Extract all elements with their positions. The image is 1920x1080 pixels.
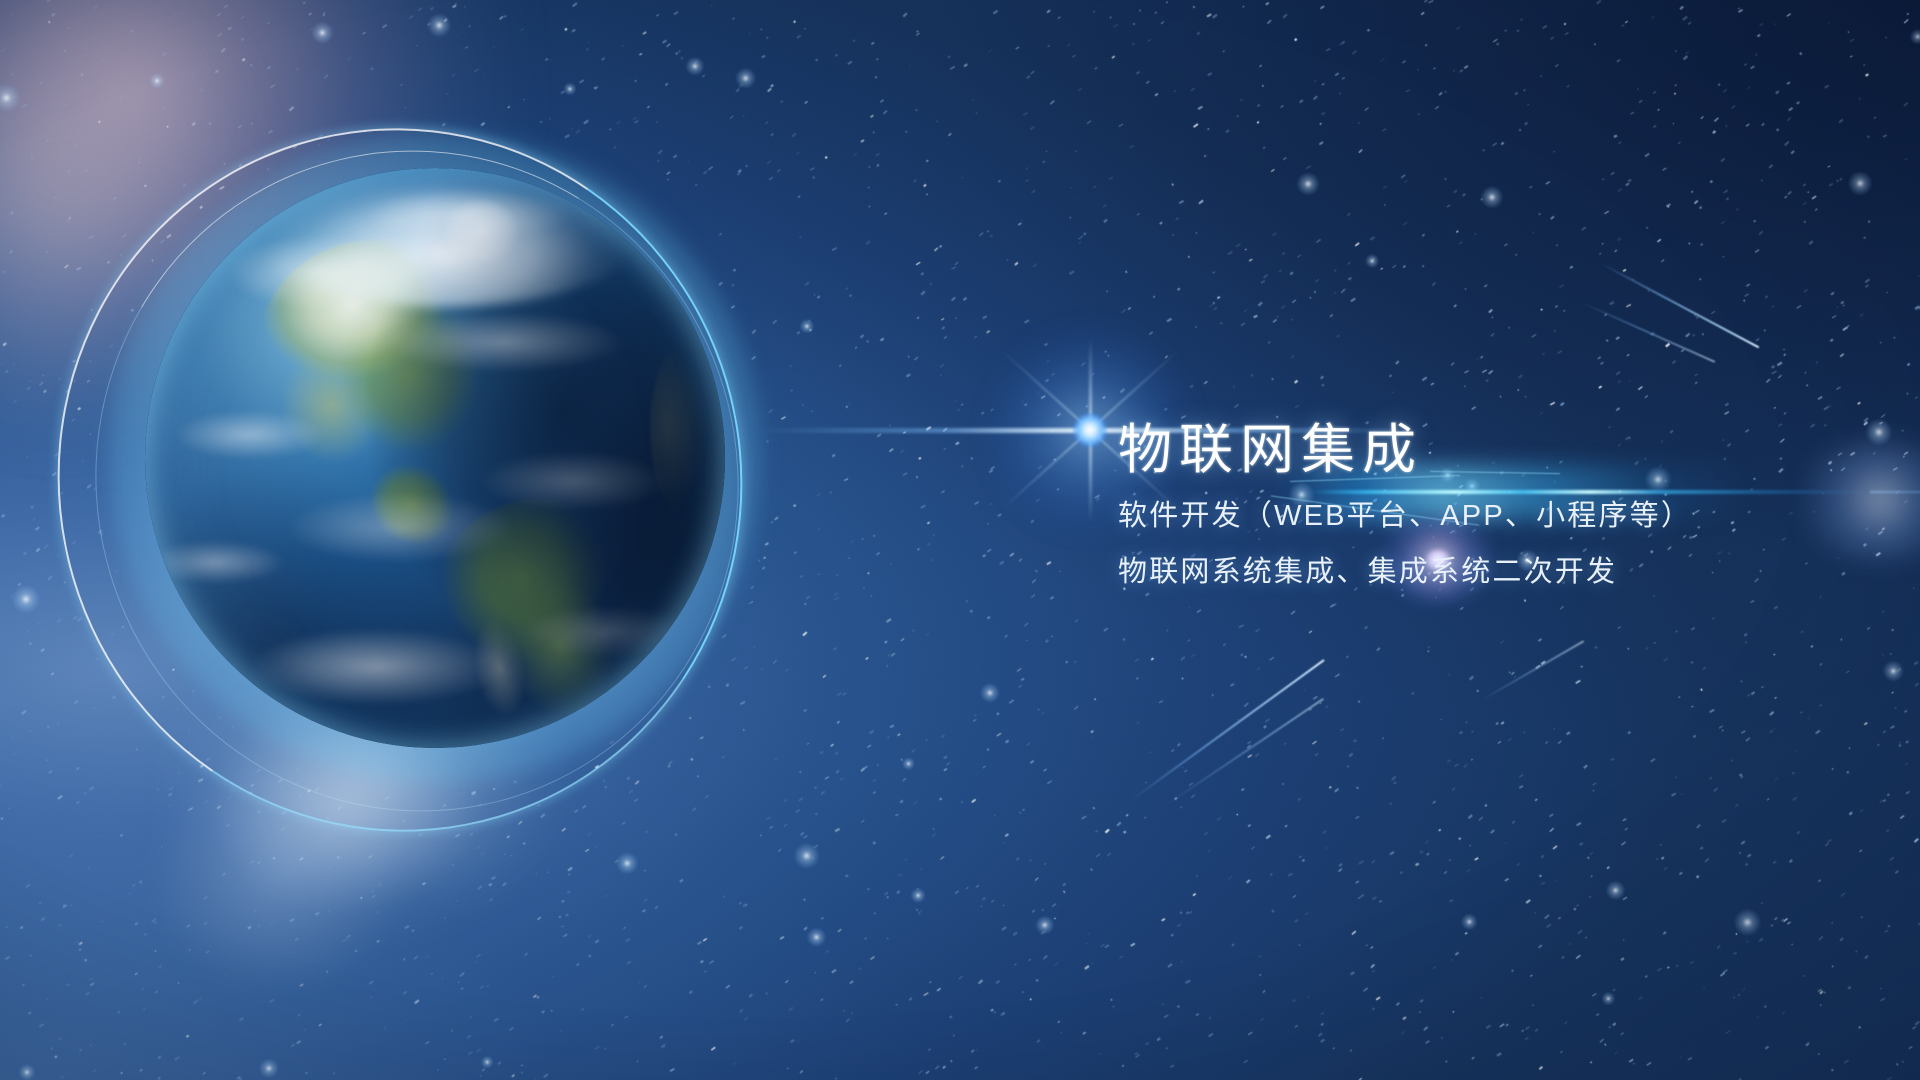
- hero-banner: 物联网集成 软件开发（WEB平台、APP、小程序等） 物联网系统集成、集成系统二…: [0, 0, 1920, 1080]
- vignette-overlay: [0, 0, 1920, 1080]
